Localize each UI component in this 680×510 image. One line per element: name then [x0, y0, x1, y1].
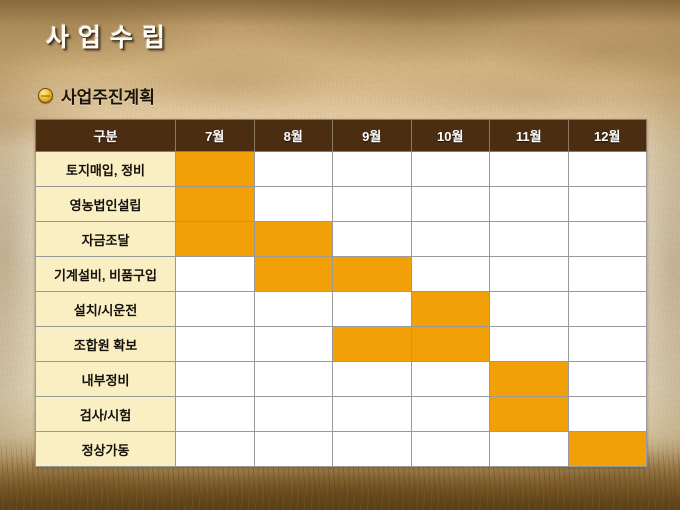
- gantt-empty-cell: [411, 152, 490, 187]
- schedule-table-body: 토지매입, 정비영농법인설립자금조달기계설비, 비품구입설치/시운전조합원 확보…: [36, 152, 647, 467]
- row-label-cell: 조합원 확보: [36, 327, 176, 362]
- table-row: 자금조달: [36, 222, 647, 257]
- gantt-empty-cell: [176, 432, 255, 467]
- schedule-gantt-table: 구분 7월 8월 9월 10월 11월 12월 토지매입, 정비영농법인설립자금…: [35, 119, 647, 467]
- row-label-cell: 자금조달: [36, 222, 176, 257]
- gantt-empty-cell: [176, 327, 255, 362]
- section-heading: 사업주진계획: [38, 83, 155, 108]
- column-header-month-12: 12월: [568, 120, 647, 152]
- gantt-empty-cell: [333, 432, 412, 467]
- gantt-bar-cell: [411, 327, 490, 362]
- row-label-cell: 토지매입, 정비: [36, 152, 176, 187]
- gantt-bar-cell: [176, 152, 255, 187]
- gantt-empty-cell: [411, 397, 490, 432]
- gantt-empty-cell: [333, 152, 412, 187]
- gantt-empty-cell: [176, 257, 255, 292]
- gantt-bar-cell: [254, 257, 333, 292]
- gantt-bar-cell: [333, 327, 412, 362]
- gantt-empty-cell: [568, 327, 647, 362]
- column-header-month-11: 11월: [490, 120, 569, 152]
- gantt-bar-cell: [254, 222, 333, 257]
- column-header-month-10: 10월: [411, 120, 490, 152]
- gantt-bar-cell: [176, 187, 255, 222]
- gantt-empty-cell: [333, 222, 412, 257]
- gantt-empty-cell: [568, 152, 647, 187]
- gantt-empty-cell: [333, 187, 412, 222]
- table-row: 기계설비, 비품구입: [36, 257, 647, 292]
- table-row: 검사/시험: [36, 397, 647, 432]
- row-label-cell: 정상가동: [36, 432, 176, 467]
- gantt-empty-cell: [176, 362, 255, 397]
- gantt-empty-cell: [411, 222, 490, 257]
- gantt-bar-cell: [411, 292, 490, 327]
- gantt-empty-cell: [333, 397, 412, 432]
- gantt-empty-cell: [568, 257, 647, 292]
- slide-content: 사업수립 사업주진계획 구분 7월 8월 9월 10월 11월 12월 토지매입…: [0, 0, 680, 510]
- column-header-month-8: 8월: [254, 120, 333, 152]
- table-header-row: 구분 7월 8월 9월 10월 11월 12월: [36, 120, 647, 152]
- column-header-month-9: 9월: [333, 120, 412, 152]
- gantt-empty-cell: [411, 187, 490, 222]
- gantt-bar-cell: [176, 222, 255, 257]
- section-heading-label: 사업주진계획: [61, 83, 155, 108]
- table-row: 내부정비: [36, 362, 647, 397]
- row-label-cell: 설치/시운전: [36, 292, 176, 327]
- table-row: 설치/시운전: [36, 292, 647, 327]
- gantt-bar-cell: [333, 257, 412, 292]
- slide-title: 사업수립: [46, 18, 174, 54]
- table-row: 정상가동: [36, 432, 647, 467]
- gantt-empty-cell: [490, 152, 569, 187]
- column-header-month-7: 7월: [176, 120, 255, 152]
- gantt-empty-cell: [254, 362, 333, 397]
- gantt-empty-cell: [568, 187, 647, 222]
- gantt-empty-cell: [176, 397, 255, 432]
- gantt-empty-cell: [568, 292, 647, 327]
- gantt-empty-cell: [333, 362, 412, 397]
- gantt-empty-cell: [490, 187, 569, 222]
- gantt-empty-cell: [490, 327, 569, 362]
- row-label-cell: 영농법인설립: [36, 187, 176, 222]
- gantt-bar-cell: [568, 432, 647, 467]
- table-row: 토지매입, 정비: [36, 152, 647, 187]
- gantt-empty-cell: [411, 362, 490, 397]
- gantt-empty-cell: [568, 397, 647, 432]
- gantt-empty-cell: [254, 327, 333, 362]
- gantt-empty-cell: [490, 222, 569, 257]
- table-row: 영농법인설립: [36, 187, 647, 222]
- gantt-empty-cell: [568, 362, 647, 397]
- gantt-empty-cell: [411, 257, 490, 292]
- gantt-empty-cell: [254, 397, 333, 432]
- gantt-empty-cell: [333, 292, 412, 327]
- gantt-empty-cell: [490, 292, 569, 327]
- gantt-empty-cell: [411, 432, 490, 467]
- row-label-cell: 검사/시험: [36, 397, 176, 432]
- gantt-empty-cell: [568, 222, 647, 257]
- gantt-empty-cell: [490, 432, 569, 467]
- gantt-empty-cell: [176, 292, 255, 327]
- row-label-cell: 내부정비: [36, 362, 176, 397]
- gantt-empty-cell: [490, 257, 569, 292]
- gantt-empty-cell: [254, 292, 333, 327]
- table-row: 조합원 확보: [36, 327, 647, 362]
- gantt-empty-cell: [254, 432, 333, 467]
- gantt-empty-cell: [254, 187, 333, 222]
- gantt-empty-cell: [254, 152, 333, 187]
- row-label-cell: 기계설비, 비품구입: [36, 257, 176, 292]
- circle-bullet-icon: [38, 88, 53, 103]
- column-header-category: 구분: [36, 120, 176, 152]
- gantt-bar-cell: [490, 362, 569, 397]
- gantt-bar-cell: [490, 397, 569, 432]
